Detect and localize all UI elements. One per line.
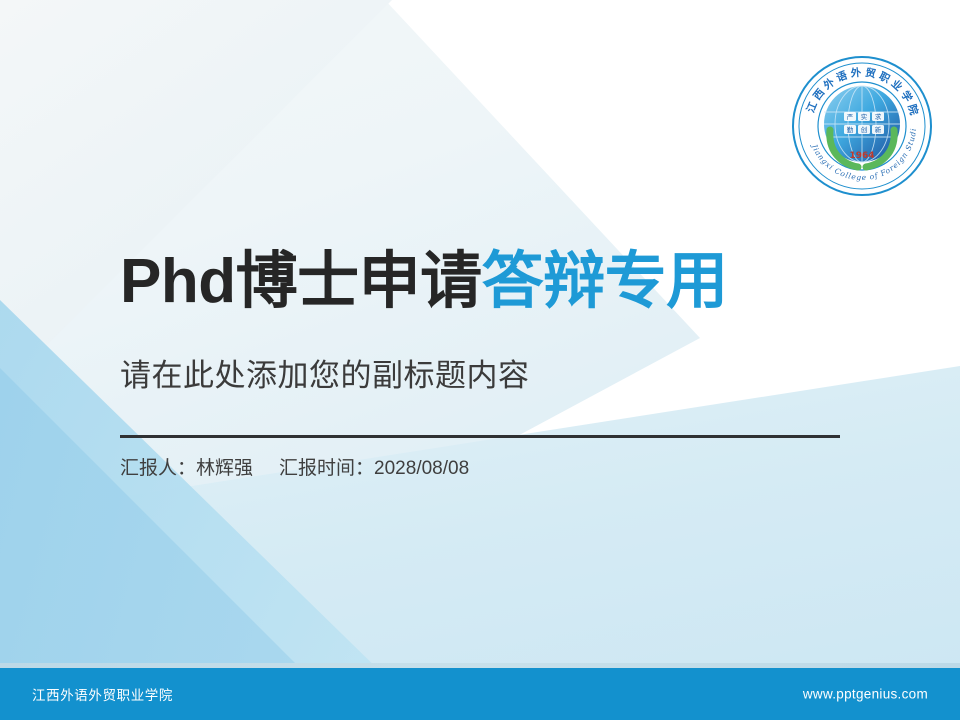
presenter-label: 汇报人： [120,458,196,479]
svg-text:严: 严 [847,113,854,121]
slide-title-accent: 答辩专用 [482,247,728,316]
slide-title-primary: Phd博士申请 [120,247,482,316]
footer-school-name: 江西外语外贸职业学院 [32,684,173,704]
svg-text:创: 创 [861,125,868,134]
presenter-meta-line: 汇报人：林辉强汇报时间：2028/08/08 [120,453,469,480]
school-logo: 严实求 勤创新 1964 江西外语外贸职业学院 Jiangxi College … [788,52,936,200]
slide-subtitle: 请在此处添加您的副标题内容 [120,350,530,395]
footer-bar: 江西外语外贸职业学院 www.pptgenius.com [0,668,960,720]
date-value: 2028/08/08 [374,458,469,479]
presenter-name: 林辉强 [196,458,253,479]
footer-website-link[interactable]: www.pptgenius.com [803,687,928,702]
svg-text:求: 求 [875,112,882,121]
svg-text:实: 实 [861,112,868,121]
date-label: 汇报时间： [279,458,374,479]
svg-text:新: 新 [875,125,882,134]
svg-text:1964: 1964 [849,151,874,161]
presentation-cover-slide: 严实求 勤创新 1964 江西外语外贸职业学院 Jiangxi College … [0,0,960,720]
svg-text:勤: 勤 [847,125,854,134]
title-divider-rule [120,435,840,438]
slide-title: Phd博士申请答辩专用 [120,249,728,314]
